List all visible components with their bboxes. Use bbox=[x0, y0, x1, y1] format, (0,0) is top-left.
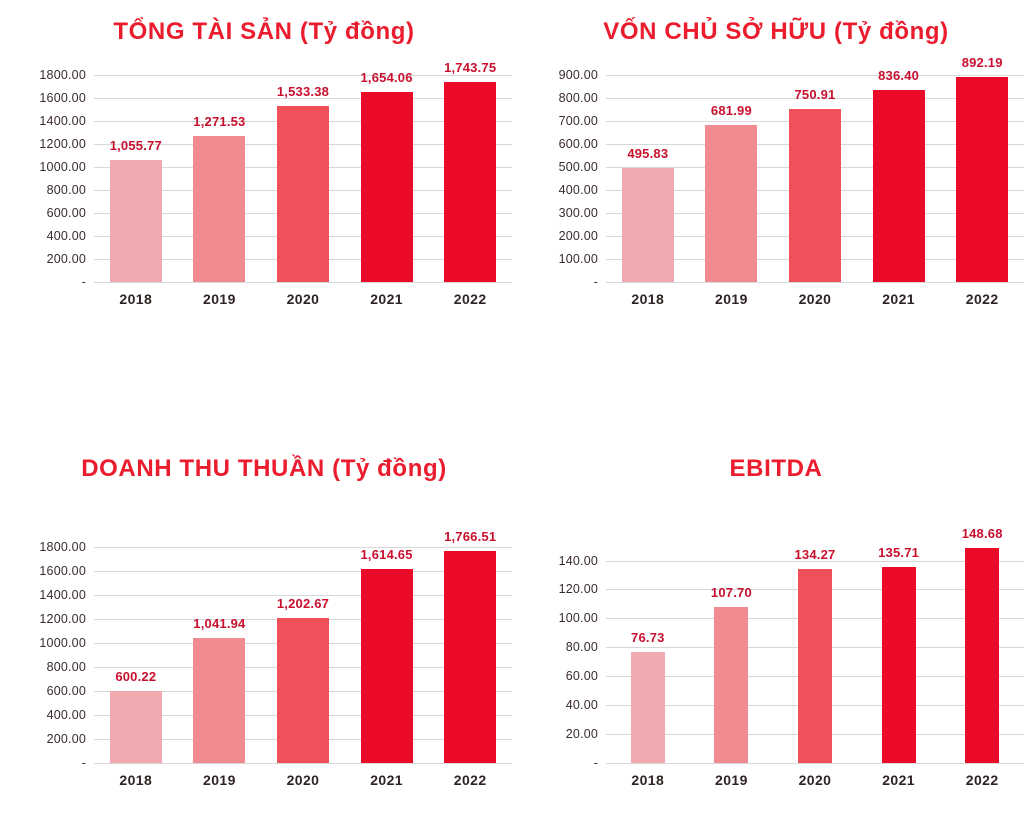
bar-value-label: 107.70 bbox=[711, 585, 752, 600]
bar-value-label: 1,202.67 bbox=[277, 596, 329, 611]
bar[interactable]: 1,055.77 bbox=[110, 160, 162, 281]
bar-slot: 495.83 bbox=[606, 64, 690, 282]
y-axis-tick-label: 400.00 bbox=[47, 229, 86, 243]
bar[interactable]: 1,202.67 bbox=[277, 618, 329, 762]
bar-slot: 76.73 bbox=[606, 535, 690, 763]
x-axis: 20182019202020212022 bbox=[528, 772, 1024, 788]
x-axis-tick-label: 2021 bbox=[857, 291, 941, 307]
infographic-board: TỔNG TÀI SẢN (Tỷ đồng) 1800.001600.00140… bbox=[0, 0, 1024, 839]
x-axis-spacer bbox=[528, 772, 606, 788]
gridline bbox=[606, 763, 1024, 764]
chart-title: TỔNG TÀI SẢN (Tỷ đồng) bbox=[16, 18, 512, 46]
y-axis-tick-label: 1800.00 bbox=[39, 540, 86, 554]
bar-slot: 836.40 bbox=[857, 64, 941, 282]
bar-slot: 1,614.65 bbox=[345, 535, 429, 763]
chart-title: VỐN CHỦ SỞ HỮU (Tỷ đồng) bbox=[528, 18, 1024, 46]
plot-area: 1800.001600.001400.001200.001000.00800.0… bbox=[16, 535, 512, 763]
bar-slot: 1,271.53 bbox=[178, 64, 262, 282]
y-axis-tick-label: 600.00 bbox=[47, 206, 86, 220]
bar-value-label: 681.99 bbox=[711, 103, 752, 118]
bar[interactable]: 495.83 bbox=[622, 168, 674, 282]
bar-slot: 750.91 bbox=[773, 64, 857, 282]
bar-slot: 148.68 bbox=[940, 535, 1024, 763]
y-axis-tick-label: 1400.00 bbox=[39, 114, 86, 128]
bar-value-label: 1,654.06 bbox=[360, 70, 412, 85]
y-axis-tick-label: - bbox=[82, 756, 86, 770]
gridline bbox=[606, 282, 1024, 283]
plot-canvas: 1,055.771,271.531,533.381,654.061,743.75 bbox=[94, 64, 512, 282]
x-axis-tick-label: 2018 bbox=[94, 291, 178, 307]
bar-slot: 1,055.77 bbox=[94, 64, 178, 282]
bar[interactable]: 1,041.94 bbox=[193, 638, 245, 763]
y-axis-tick-label: 1000.00 bbox=[39, 160, 86, 174]
x-axis-tick-label: 2018 bbox=[94, 772, 178, 788]
bar-slot: 135.71 bbox=[857, 535, 941, 763]
bar-series: 76.73107.70134.27135.71148.68 bbox=[606, 535, 1024, 763]
x-axis-ticks: 20182019202020212022 bbox=[606, 772, 1024, 788]
x-axis-tick-label: 2021 bbox=[345, 291, 429, 307]
bar-value-label: 135.71 bbox=[878, 545, 919, 560]
bar-value-label: 1,041.94 bbox=[193, 616, 245, 631]
x-axis-tick-label: 2018 bbox=[606, 291, 690, 307]
y-axis-tick-label: 1400.00 bbox=[39, 588, 86, 602]
bar-value-label: 76.73 bbox=[631, 630, 665, 645]
bar-slot: 1,766.51 bbox=[428, 535, 512, 763]
x-axis-tick-label: 2019 bbox=[690, 291, 774, 307]
bar-value-label: 1,055.77 bbox=[110, 138, 162, 153]
bar-value-label: 1,766.51 bbox=[444, 529, 496, 544]
x-axis-tick-label: 2019 bbox=[178, 772, 262, 788]
x-axis-tick-label: 2020 bbox=[773, 291, 857, 307]
bar[interactable]: 1,766.51 bbox=[444, 551, 496, 763]
x-axis: 20182019202020212022 bbox=[16, 291, 512, 307]
chart-title: DOANH THU THUẦN (Tỷ đồng) bbox=[16, 455, 512, 483]
y-axis-tick-label: - bbox=[82, 275, 86, 289]
bar-slot: 892.19 bbox=[940, 64, 1024, 282]
bar-slot: 1,041.94 bbox=[178, 535, 262, 763]
y-axis-tick-label: 200.00 bbox=[559, 229, 598, 243]
y-axis-tick-label: 200.00 bbox=[47, 732, 86, 746]
y-axis-tick-label: 900.00 bbox=[559, 68, 598, 82]
x-axis-tick-label: 2022 bbox=[428, 772, 512, 788]
chart-panel-total-assets: TỔNG TÀI SẢN (Tỷ đồng) 1800.001600.00140… bbox=[16, 18, 512, 338]
y-axis-tick-label: 400.00 bbox=[47, 708, 86, 722]
y-axis-tick-label: 700.00 bbox=[559, 114, 598, 128]
plot-canvas: 76.73107.70134.27135.71148.68 bbox=[606, 535, 1024, 763]
bar-value-label: 750.91 bbox=[795, 87, 836, 102]
x-axis-tick-label: 2021 bbox=[857, 772, 941, 788]
bar[interactable]: 892.19 bbox=[956, 77, 1008, 282]
y-axis-tick-label: 100.00 bbox=[559, 252, 598, 266]
bar-series: 600.221,041.941,202.671,614.651,766.51 bbox=[94, 535, 512, 763]
x-axis-tick-label: 2020 bbox=[261, 291, 345, 307]
y-axis-tick-label: 600.00 bbox=[47, 684, 86, 698]
y-axis-tick-label: 60.00 bbox=[566, 669, 598, 683]
x-axis-ticks: 20182019202020212022 bbox=[94, 291, 512, 307]
y-axis-tick-label: 1200.00 bbox=[39, 612, 86, 626]
bar-value-label: 836.40 bbox=[878, 68, 919, 83]
bar[interactable]: 1,614.65 bbox=[361, 569, 413, 763]
x-axis-spacer bbox=[16, 291, 94, 307]
bar-value-label: 148.68 bbox=[962, 526, 1003, 541]
x-axis: 20182019202020212022 bbox=[16, 772, 512, 788]
y-axis-tick-label: 40.00 bbox=[566, 698, 598, 712]
y-axis-tick-label: 80.00 bbox=[566, 640, 598, 654]
y-axis: 140.00120.00100.0080.0060.0040.0020.00- bbox=[528, 535, 606, 763]
y-axis-tick-label: 1600.00 bbox=[39, 564, 86, 578]
y-axis: 900.00800.00700.00600.00500.00400.00300.… bbox=[528, 64, 606, 282]
y-axis-tick-label: - bbox=[594, 275, 598, 289]
bar[interactable]: 1,743.75 bbox=[444, 82, 496, 282]
y-axis-tick-label: 400.00 bbox=[559, 183, 598, 197]
bar[interactable]: 135.71 bbox=[882, 567, 916, 763]
gridline bbox=[94, 763, 512, 764]
x-axis-tick-label: 2021 bbox=[345, 772, 429, 788]
x-axis: 20182019202020212022 bbox=[528, 291, 1024, 307]
plot-area: 900.00800.00700.00600.00500.00400.00300.… bbox=[528, 64, 1024, 282]
bar-slot: 134.27 bbox=[773, 535, 857, 763]
x-axis-ticks: 20182019202020212022 bbox=[94, 772, 512, 788]
bar[interactable]: 1,654.06 bbox=[361, 92, 413, 282]
bar-value-label: 600.22 bbox=[115, 669, 156, 684]
bar-slot: 1,202.67 bbox=[261, 535, 345, 763]
bar-value-label: 495.83 bbox=[627, 146, 668, 161]
y-axis-tick-label: 800.00 bbox=[559, 91, 598, 105]
plot-area: 1800.001600.001400.001200.001000.00800.0… bbox=[16, 64, 512, 282]
x-axis-spacer bbox=[16, 772, 94, 788]
bar-value-label: 134.27 bbox=[795, 547, 836, 562]
x-axis-tick-label: 2019 bbox=[178, 291, 262, 307]
bar-value-label: 1,271.53 bbox=[193, 114, 245, 129]
bar[interactable]: 750.91 bbox=[789, 109, 841, 281]
bar[interactable]: 148.68 bbox=[965, 548, 999, 763]
y-axis-tick-label: 120.00 bbox=[559, 582, 598, 596]
y-axis: 1800.001600.001400.001200.001000.00800.0… bbox=[16, 64, 94, 282]
bar[interactable]: 134.27 bbox=[798, 569, 832, 763]
bar-slot: 1,743.75 bbox=[428, 64, 512, 282]
bar[interactable]: 1,533.38 bbox=[277, 106, 329, 282]
chart-panel-equity: VỐN CHỦ SỞ HỮU (Tỷ đồng) 900.00800.00700… bbox=[528, 18, 1024, 338]
x-axis-tick-label: 2022 bbox=[940, 772, 1024, 788]
chart-title: EBITDA bbox=[528, 455, 1024, 483]
bar-series: 1,055.771,271.531,533.381,654.061,743.75 bbox=[94, 64, 512, 282]
y-axis-tick-label: 1800.00 bbox=[39, 68, 86, 82]
bar-slot: 681.99 bbox=[690, 64, 774, 282]
bar-slot: 1,654.06 bbox=[345, 64, 429, 282]
x-axis-tick-label: 2019 bbox=[690, 772, 774, 788]
gridline bbox=[94, 282, 512, 283]
y-axis-tick-label: 800.00 bbox=[47, 183, 86, 197]
plot-canvas: 495.83681.99750.91836.40892.19 bbox=[606, 64, 1024, 282]
bar-series: 495.83681.99750.91836.40892.19 bbox=[606, 64, 1024, 282]
x-axis-tick-label: 2020 bbox=[773, 772, 857, 788]
x-axis-ticks: 20182019202020212022 bbox=[606, 291, 1024, 307]
y-axis-tick-label: 300.00 bbox=[559, 206, 598, 220]
y-axis-tick-label: 1000.00 bbox=[39, 636, 86, 650]
bar[interactable]: 600.22 bbox=[110, 691, 162, 763]
x-axis-tick-label: 2022 bbox=[940, 291, 1024, 307]
y-axis-tick-label: 20.00 bbox=[566, 727, 598, 741]
bar-value-label: 1,743.75 bbox=[444, 60, 496, 75]
y-axis-tick-label: 200.00 bbox=[47, 252, 86, 266]
y-axis-tick-label: 1600.00 bbox=[39, 91, 86, 105]
bar-value-label: 1,533.38 bbox=[277, 84, 329, 99]
y-axis-tick-label: 500.00 bbox=[559, 160, 598, 174]
bar[interactable]: 836.40 bbox=[873, 90, 925, 282]
bar-slot: 600.22 bbox=[94, 535, 178, 763]
plot-area: 140.00120.00100.0080.0060.0040.0020.00- … bbox=[528, 535, 1024, 763]
y-axis-tick-label: 600.00 bbox=[559, 137, 598, 151]
y-axis-tick-label: 140.00 bbox=[559, 554, 598, 568]
y-axis-tick-label: 800.00 bbox=[47, 660, 86, 674]
bar[interactable]: 1,271.53 bbox=[193, 136, 245, 282]
bar[interactable]: 107.70 bbox=[714, 607, 748, 762]
y-axis-tick-label: 100.00 bbox=[559, 611, 598, 625]
bar[interactable]: 76.73 bbox=[631, 652, 665, 763]
x-axis-spacer bbox=[528, 291, 606, 307]
x-axis-tick-label: 2018 bbox=[606, 772, 690, 788]
plot-canvas: 600.221,041.941,202.671,614.651,766.51 bbox=[94, 535, 512, 763]
y-axis-tick-label: 1200.00 bbox=[39, 137, 86, 151]
bar-value-label: 892.19 bbox=[962, 55, 1003, 70]
chart-panel-ebitda: EBITDA 140.00120.00100.0080.0060.0040.00… bbox=[528, 455, 1024, 811]
x-axis-tick-label: 2022 bbox=[428, 291, 512, 307]
y-axis: 1800.001600.001400.001200.001000.00800.0… bbox=[16, 535, 94, 763]
bar-slot: 107.70 bbox=[690, 535, 774, 763]
y-axis-tick-label: - bbox=[594, 756, 598, 770]
bar-slot: 1,533.38 bbox=[261, 64, 345, 282]
chart-panel-net-revenue: DOANH THU THUẦN (Tỷ đồng) 1800.001600.00… bbox=[16, 455, 512, 811]
x-axis-tick-label: 2020 bbox=[261, 772, 345, 788]
bar[interactable]: 681.99 bbox=[705, 125, 757, 281]
bar-value-label: 1,614.65 bbox=[360, 547, 412, 562]
